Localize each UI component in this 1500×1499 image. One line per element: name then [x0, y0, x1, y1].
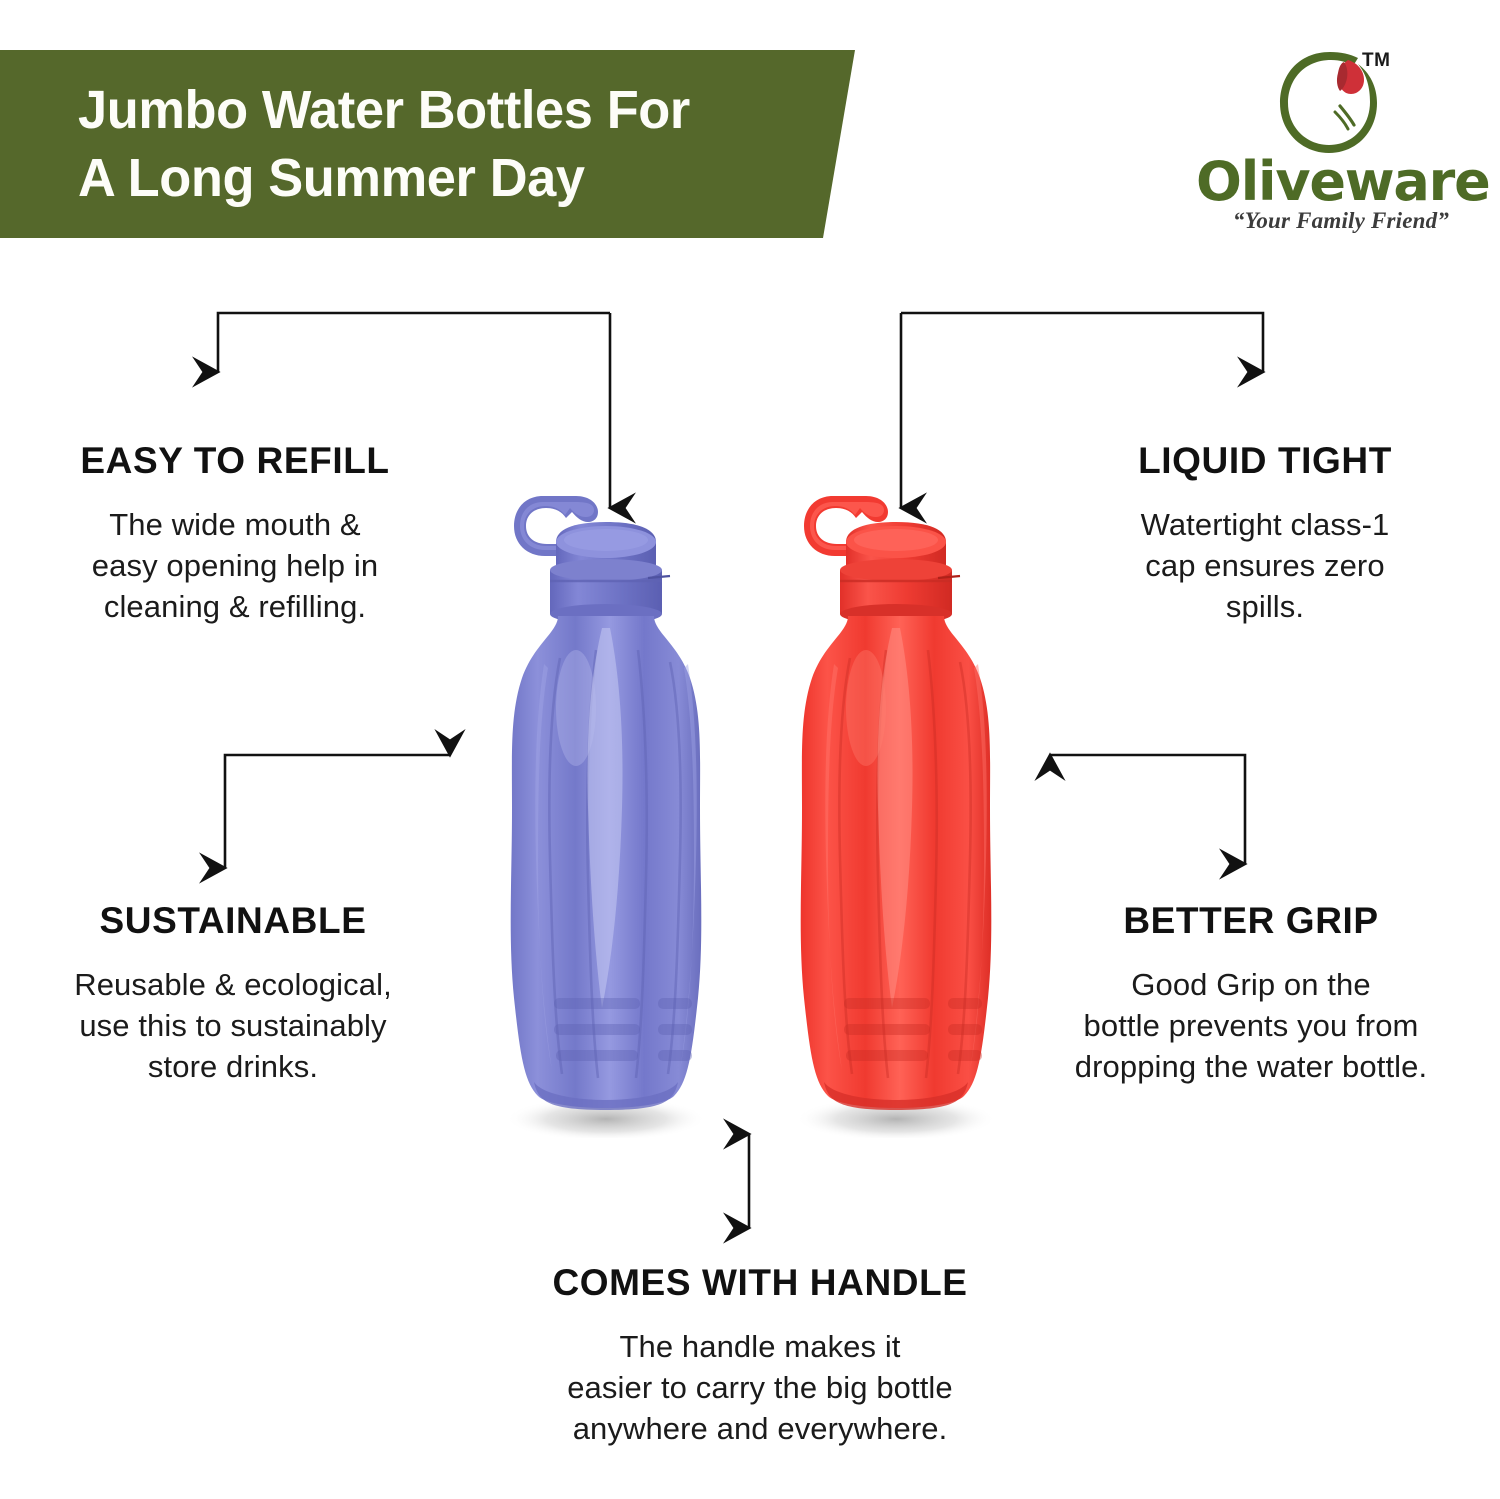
trademark-icon: TM [1362, 50, 1390, 72]
header-title-line-2: A Long Summer Day [78, 144, 837, 212]
feature-body: The handle makes it easier to carry the … [490, 1326, 1030, 1450]
brand-logo: TM Oliveware “Your Family Friend” [1196, 46, 1486, 241]
header-banner: Jumbo Water Bottles For A Long Summer Da… [0, 50, 860, 238]
grip-connector [1050, 755, 1245, 864]
feature-title: SUSTAINABLE [8, 900, 458, 942]
feature-body: Reusable & ecological, use this to susta… [8, 964, 458, 1088]
feature-title: BETTER GRIP [1012, 900, 1490, 942]
feature-body: The wide mouth & easy opening help in cl… [10, 504, 460, 628]
header-title-line-1: Jumbo Water Bottles For [78, 76, 837, 144]
feature-comes-with-handle: COMES WITH HANDLE The handle makes it ea… [490, 1262, 1030, 1450]
brand-name: Oliveware [1196, 150, 1486, 213]
sustain-connector [225, 755, 450, 868]
feature-easy-to-refill: EASY TO REFILL The wide mouth & easy ope… [10, 440, 460, 628]
feature-title: EASY TO REFILL [10, 440, 460, 482]
feature-title: LIQUID TIGHT [1040, 440, 1490, 482]
feature-better-grip: BETTER GRIP Good Grip on the bottle prev… [1012, 900, 1490, 1088]
feature-body: Watertight class-1 cap ensures zero spil… [1040, 504, 1490, 628]
brand-tagline: “Your Family Friend” [1196, 208, 1486, 234]
feature-title: COMES WITH HANDLE [490, 1262, 1030, 1304]
blue-bottle [498, 478, 713, 1138]
feature-body: Good Grip on the bottle prevents you fro… [1012, 964, 1490, 1088]
red-bottle [788, 478, 1003, 1138]
feature-sustainable: SUSTAINABLE Reusable & ecological, use t… [8, 900, 458, 1088]
feature-liquid-tight: LIQUID TIGHT Watertight class-1 cap ensu… [1040, 440, 1490, 628]
infographic-canvas: Jumbo Water Bottles For A Long Summer Da… [0, 0, 1500, 1499]
